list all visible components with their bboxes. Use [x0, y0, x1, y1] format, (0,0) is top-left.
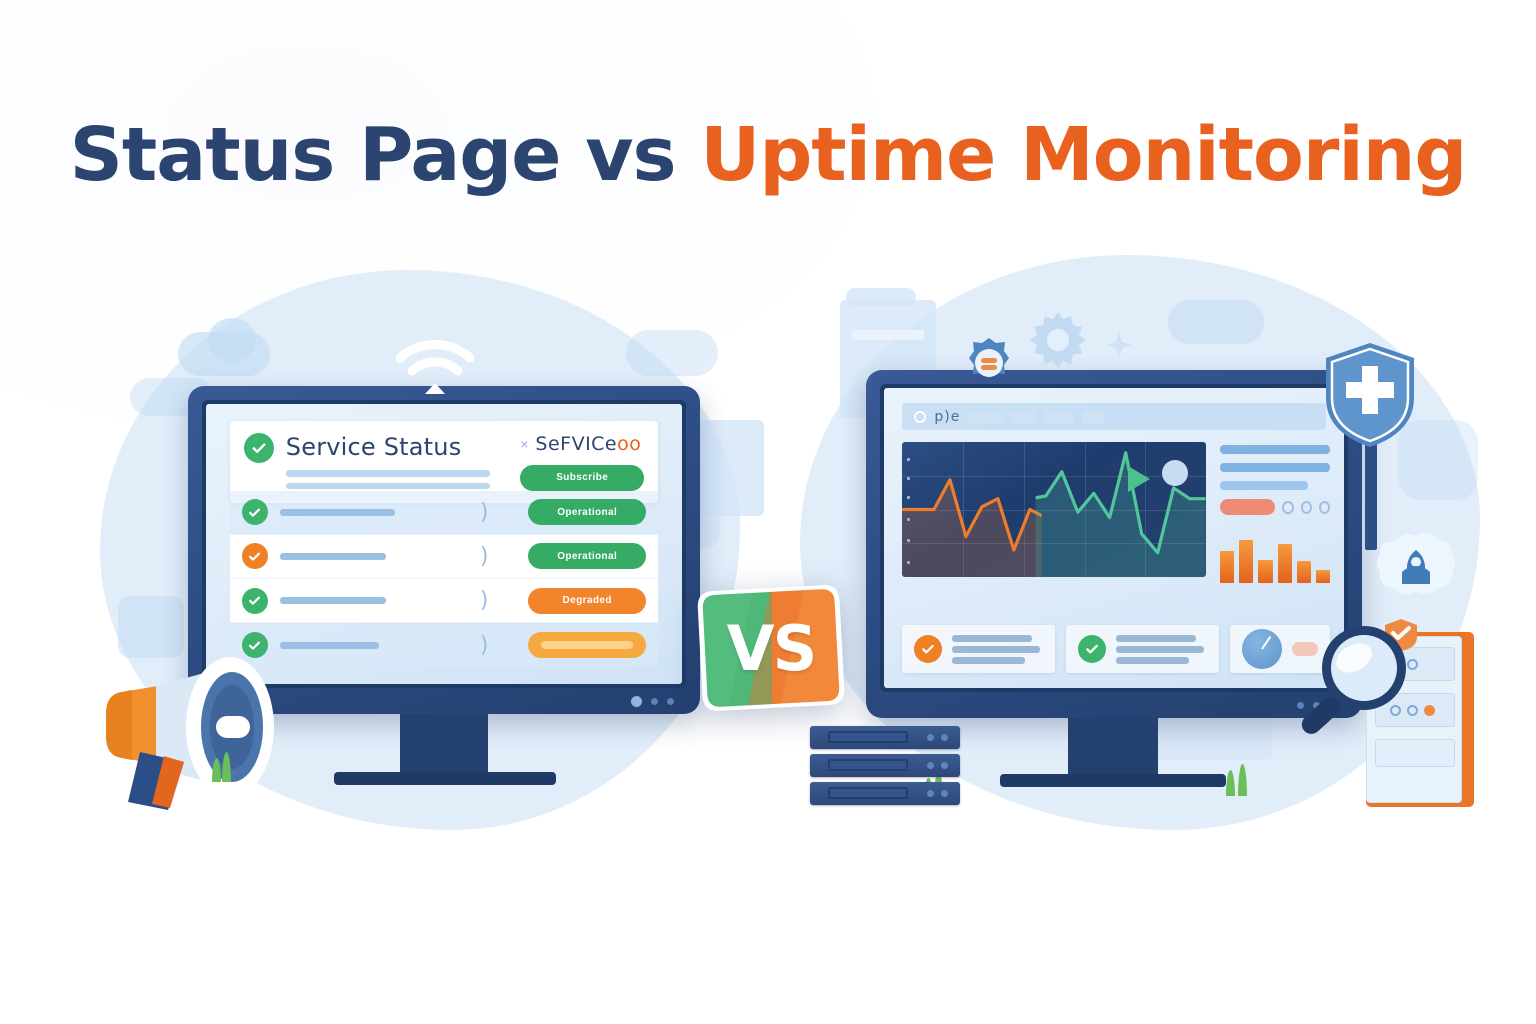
bar-3 [1258, 560, 1272, 583]
topbar-segment [1082, 411, 1104, 423]
brand-name: SeFVICeoo [535, 433, 641, 455]
wifi-signal-icon [392, 338, 478, 396]
list-line [1220, 463, 1330, 472]
cloud-decoration [1168, 300, 1264, 344]
uptime-dashboard-screen: p)e [884, 388, 1344, 688]
server-stack-icon [810, 726, 960, 806]
table-row[interactable]: ) Degraded [230, 579, 658, 623]
gear-settings-badge [962, 336, 1016, 390]
topbar-segment [1044, 411, 1074, 423]
row-label [280, 509, 440, 516]
sparkle-icon [1104, 330, 1134, 360]
magnifier-icon [1294, 620, 1414, 745]
uptime-waveform-chart [902, 442, 1206, 577]
placeholder-bar [286, 483, 491, 489]
bar-1 [1220, 551, 1234, 583]
ghost-panel [690, 420, 764, 516]
row-label [280, 553, 440, 560]
power-led-icon [631, 696, 642, 707]
side-list-actions [1220, 499, 1330, 515]
check-circle-icon [242, 499, 268, 525]
monitor-stand-base [334, 772, 556, 785]
uptime-monitoring-monitor: p)e [866, 370, 1362, 718]
status-badge: Degraded [528, 588, 646, 614]
card-lines [1116, 631, 1207, 668]
monitor-chin [866, 692, 1362, 718]
table-row[interactable]: ) Operational [230, 491, 658, 535]
waveform-series [902, 442, 1206, 577]
topbar-segment [968, 411, 1002, 423]
ghost-line [852, 330, 924, 340]
service-status-title: Service Status [286, 433, 508, 461]
row-meta: ) [452, 588, 516, 613]
alert-chip [1220, 499, 1276, 515]
monitor-stand-neck [1068, 718, 1158, 778]
topbar-segment [1010, 411, 1036, 423]
check-circle-icon [242, 588, 268, 614]
status-card[interactable] [1066, 625, 1219, 673]
circle-outline-icon [914, 411, 926, 423]
indicator-led-icon [651, 698, 658, 705]
status-badge [528, 632, 646, 658]
table-row[interactable]: ) Operational [230, 535, 658, 579]
ghost-panel [846, 288, 916, 306]
status-card[interactable] [902, 625, 1055, 673]
status-badge: Operational [528, 499, 646, 525]
dashboard-side-list [1220, 445, 1330, 515]
bar-6 [1316, 570, 1330, 583]
cloud-rocket-badge [1374, 528, 1458, 606]
versus-label: VS [686, 578, 856, 718]
cloud-decoration [208, 318, 256, 362]
gear-icon [1028, 310, 1088, 370]
bar-2 [1239, 540, 1253, 583]
monitor-inner-bezel: p)e [880, 384, 1348, 692]
check-circle-icon [244, 433, 274, 463]
check-circle-icon [914, 635, 942, 663]
list-line [1220, 481, 1308, 490]
row-meta: ) [452, 633, 516, 658]
topbar-label: p)e [934, 409, 960, 425]
megaphone-icon [60, 630, 330, 820]
circle-outline-icon [1319, 501, 1330, 514]
dashboard-topbar: p)e [902, 403, 1325, 430]
mini-bar-chart [1220, 532, 1330, 583]
title-part-uptime-monitoring: Uptime Monitoring [700, 112, 1466, 198]
status-badge: Operational [528, 543, 646, 569]
subscribe-button[interactable]: Subscribe [520, 465, 644, 491]
circle-outline-icon [1301, 501, 1312, 514]
placeholder-bar [286, 470, 491, 477]
monitor-stand-base [1000, 774, 1226, 787]
bar-4 [1278, 544, 1292, 583]
dashboard-cards [902, 625, 1330, 673]
monitor-stand-neck [400, 714, 488, 776]
row-meta: ) [452, 500, 516, 525]
play-triangle-icon[interactable] [1128, 466, 1150, 492]
shield-plus-icon [1322, 340, 1418, 450]
row-label [280, 597, 440, 604]
cloud-decoration [626, 330, 718, 376]
close-icon: × [520, 436, 528, 452]
brand-lockup: × SeFVICeoo [520, 433, 644, 455]
list-line [1220, 445, 1330, 454]
row-meta: ) [452, 544, 516, 569]
gauge-icon [1242, 629, 1282, 669]
versus-shield-badge: VS [686, 578, 856, 718]
status-dot-icon [1424, 705, 1435, 716]
illustration-canvas: Status Page vs Uptime Monitoring [0, 0, 1536, 1024]
check-circle-icon [1078, 635, 1106, 663]
page-title: Status Page vs Uptime Monitoring [0, 118, 1536, 192]
title-part-status-page: Status Page vs [70, 112, 701, 198]
card-lines [952, 631, 1043, 668]
bar-5 [1297, 561, 1311, 583]
circle-outline-icon [1282, 501, 1293, 514]
indicator-led-icon [667, 698, 674, 705]
status-dot-icon [1162, 460, 1188, 486]
check-circle-icon [242, 543, 268, 569]
